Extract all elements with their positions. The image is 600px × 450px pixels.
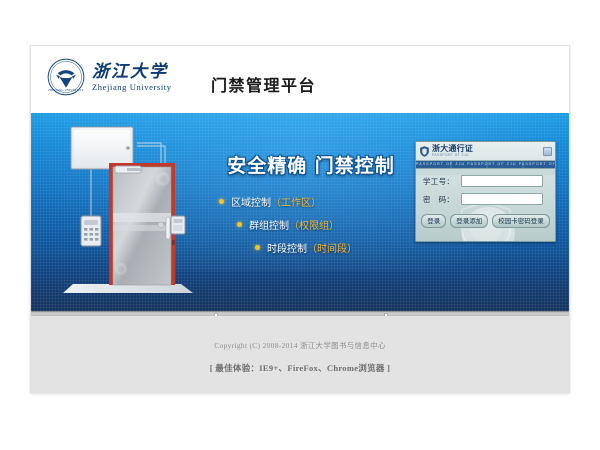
campus-card-login-button[interactable]: 校园卡密码登录 bbox=[492, 214, 550, 228]
password-field-row: 密 码： bbox=[423, 193, 555, 205]
login-ribbon: PASSPORT OF ZJU PASSPORT OF ZJU PASSPORT… bbox=[416, 161, 555, 169]
site-footer: Copyright (C) 2008-2014 浙江大学图书与信息中心 [ 最佳… bbox=[31, 316, 569, 393]
login-button[interactable]: 登录 bbox=[421, 214, 446, 228]
login-title-cn: 浙大通行证 bbox=[432, 144, 473, 153]
hero-feature-item: 群组控制（权限组） bbox=[237, 217, 421, 232]
bullet-dot-icon bbox=[237, 222, 242, 227]
username-label: 学工号： bbox=[423, 176, 461, 187]
site-header: ZHEJIANG UNIVERSITY 浙江大学 Zhejiang Univer… bbox=[31, 46, 569, 113]
footer-browser-support: [ 最佳体验：IE9+、FireFox、Chrome浏览器 ] bbox=[31, 362, 569, 374]
hero-feature-accent: （工作区） bbox=[271, 198, 321, 209]
hero-feature-accent: （时间段） bbox=[307, 244, 357, 255]
username-field-row: 学工号： bbox=[423, 175, 555, 187]
brand-name-en: Zhejiang University bbox=[92, 82, 172, 93]
login-panel: 浙大通行证 PASSPORT OF ZJU PASSPORT OF ZJU PA… bbox=[415, 141, 556, 242]
brand-name-cn: 浙江大学 bbox=[92, 62, 172, 82]
login-add-button[interactable]: 登录添加 bbox=[450, 214, 488, 228]
login-title-group: 浙大通行证 PASSPORT OF ZJU bbox=[432, 144, 473, 158]
shield-icon bbox=[420, 146, 429, 157]
username-input[interactable] bbox=[461, 175, 543, 187]
hero-headline: 安全精确 门禁控制 bbox=[201, 151, 421, 178]
zju-seal-icon: ZHEJIANG UNIVERSITY bbox=[47, 58, 85, 96]
bullet-dot-icon bbox=[255, 245, 260, 250]
password-label: 密 码： bbox=[423, 194, 461, 205]
bullet-dot-icon bbox=[219, 199, 224, 204]
hero-feature-item: 时段控制（时间段） bbox=[255, 240, 421, 255]
footer-copyright: Copyright (C) 2008-2014 浙江大学图书与信息中心 bbox=[31, 340, 569, 351]
page-frame: ZHEJIANG UNIVERSITY 浙江大学 Zhejiang Univer… bbox=[30, 45, 570, 393]
password-input[interactable] bbox=[461, 193, 543, 205]
window-close-icon[interactable] bbox=[543, 147, 552, 156]
access-control-door-illustration bbox=[53, 121, 203, 306]
login-ribbon-text: PASSPORT OF ZJU PASSPORT OF ZJU PASSPORT… bbox=[416, 161, 555, 168]
svg-text:ZHEJIANG UNIVERSITY: ZHEJIANG UNIVERSITY bbox=[48, 88, 84, 92]
hero-feature-label: 区域控制 bbox=[231, 198, 271, 209]
hero-feature-item: 区域控制（工作区） bbox=[219, 194, 421, 209]
hero-feature-list: 区域控制（工作区） 群组控制（权限组） 时段控制（时间段） bbox=[219, 194, 421, 255]
hero-copy: 安全精确 门禁控制 区域控制（工作区） 群组控制（权限组） 时段控制（时间段） bbox=[201, 151, 421, 271]
login-panel-header: 浙大通行证 PASSPORT OF ZJU bbox=[416, 142, 555, 161]
hero-feature-accent: （权限组） bbox=[289, 221, 339, 232]
page-title: 门禁管理平台 bbox=[211, 72, 316, 96]
hero-feature-label: 时段控制 bbox=[267, 244, 307, 255]
login-button-group: 登录 登录添加 校园卡密码登录 bbox=[416, 214, 555, 228]
login-form: 学工号： 密 码： 登录 登录添加 校园卡密码登录 bbox=[416, 175, 555, 242]
brand-logo[interactable]: ZHEJIANG UNIVERSITY 浙江大学 Zhejiang Univer… bbox=[47, 58, 172, 96]
hero-feature-label: 群组控制 bbox=[249, 221, 289, 232]
hero-banner: 安全精确 门禁控制 区域控制（工作区） 群组控制（权限组） 时段控制（时间段） bbox=[31, 113, 569, 311]
brand-text: 浙江大学 Zhejiang University bbox=[92, 62, 172, 93]
login-title-en: PASSPORT OF ZJU bbox=[432, 153, 473, 158]
